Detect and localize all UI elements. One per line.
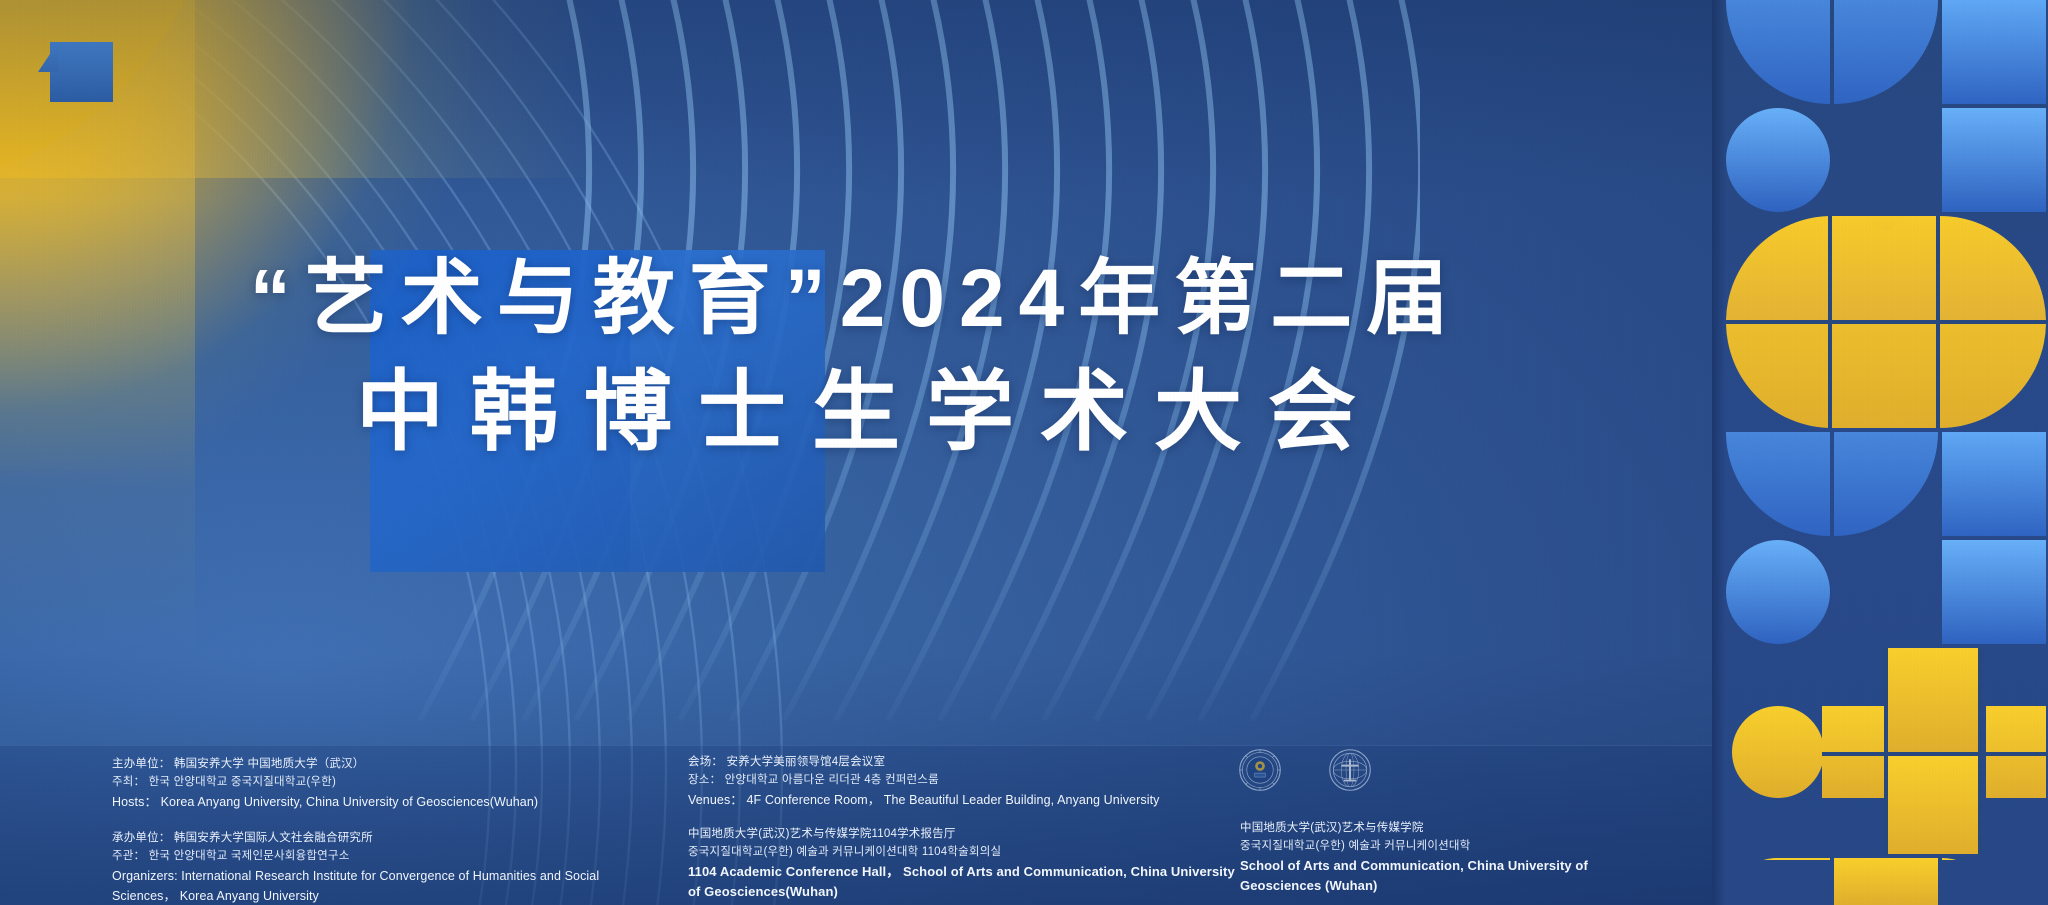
organizers-chinese: 承办单位： 韩国安养大学国际人文社会融合研究所 [112, 830, 632, 848]
conference-hall-block: 中国地质大学(武汉)艺术与传媒学院1104学术报告厅 중국지질대학교(우한) 예… [688, 826, 1248, 903]
title-block: “艺术与教育”2024年第二届 中韩博士生学术大会 [0, 258, 1712, 456]
venues-block: 会场： 安养大学美丽领导馆4层会议室 장소： 안양대학교 아름다운 리더관 4층… [688, 754, 1208, 810]
school-korean: 중국지질대학교(우한) 예술과 커뮤니케이션대학 [1240, 838, 1670, 856]
footer-divider-line [0, 745, 1712, 746]
page-title-line-1: “艺术与教育”2024年第二届 [0, 258, 1712, 340]
organizers-english: Organizers: International Research Insti… [112, 866, 632, 905]
page-title-line-2: 中韩博士生学术大会 [0, 368, 1712, 456]
hosts-english: Hosts： Korea Anyang University, China Un… [112, 792, 592, 812]
hall-korean: 중국지질대학교(우한) 예술과 커뮤니케이션대학 1104학술회의실 [688, 844, 1248, 862]
anyang-university-seal-icon [1238, 748, 1282, 792]
venues-korean: 장소： 안양대학교 아름다운 리더관 4층 컨퍼런스룸 [688, 772, 1208, 790]
organizers-block: 承办单位： 韩国安养大学国际人文社会融合研究所 주관： 한국 안양대학교 국제인… [112, 830, 632, 905]
school-block: 中国地质大学(武汉)艺术与传媒学院 중국지질대학교(우한) 예술과 커뮤니케이션… [1240, 820, 1670, 897]
geometric-panel-edge-shade [1712, 0, 1726, 905]
china-university-of-geosciences-seal-icon [1328, 748, 1372, 792]
school-chinese: 中国地质大学(武汉)艺术与传媒学院 [1240, 820, 1670, 838]
geometric-pattern-panel [1712, 0, 2048, 905]
hall-chinese: 中国地质大学(武汉)艺术与传媒学院1104学术报告厅 [688, 826, 1248, 844]
school-english: School of Arts and Communication, China … [1240, 856, 1670, 898]
hall-english: 1104 Academic Conference Hall， School of… [688, 862, 1248, 904]
conference-poster: “艺术与教育”2024年第二届 中韩博士生学术大会 主办单位： 韩国安养大学 中… [0, 0, 2048, 905]
organizers-korean: 주관： 한국 안양대학교 국제인문사회융합연구소 [112, 848, 632, 866]
venues-chinese: 会场： 安养大学美丽领导馆4层会议室 [688, 754, 1208, 772]
hosts-korean: 주최： 한국 안양대학교 중국지질대학교(우한) [112, 774, 592, 792]
university-seals [1238, 748, 1372, 792]
hosts-chinese: 主办单位： 韩国安养大学 中国地质大学（武汉） [112, 756, 592, 774]
hosts-block: 主办单位： 韩国安养大学 中国地质大学（武汉） 주최： 한국 안양대학교 중국지… [112, 756, 592, 812]
venues-english: Venues： 4F Conference Room， The Beautifu… [688, 790, 1208, 810]
